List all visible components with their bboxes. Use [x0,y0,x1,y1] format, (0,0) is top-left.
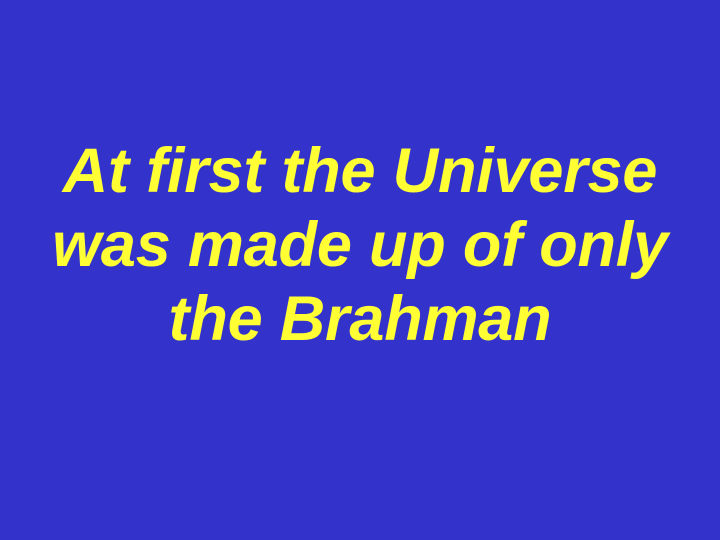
title-line-1: At first the Universe [36,134,684,208]
slide-canvas: At first the Universe was made up of onl… [0,0,720,540]
title-line-3: the Brahman [36,282,684,356]
title-line-2: was made up of only [36,208,684,282]
slide-title: At first the Universe was made up of onl… [36,134,684,356]
